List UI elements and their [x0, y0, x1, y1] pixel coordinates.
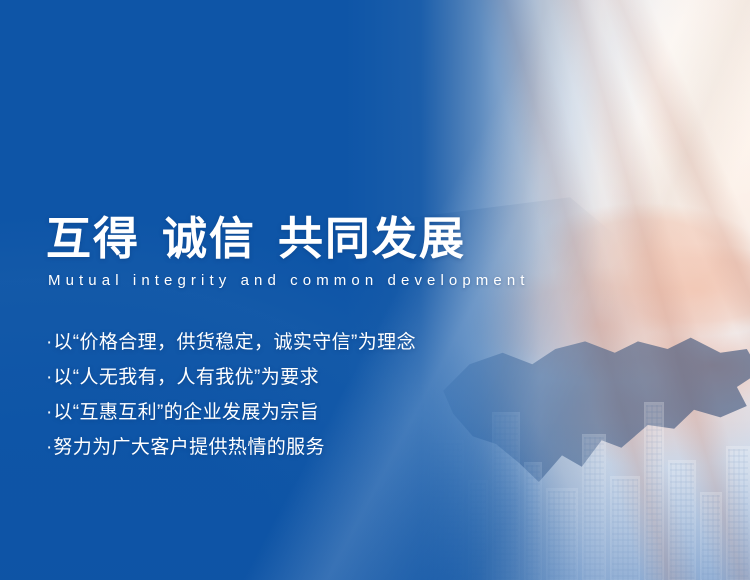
list-item: · 以“价格合理，供货稳定，诚实守信”为理念 — [46, 333, 416, 352]
headline-part-1: 互得 — [46, 213, 140, 264]
slogan-list: · 以“价格合理，供货稳定，诚实守信”为理念 · 以“人无我有，人有我优”为要求… — [46, 333, 416, 473]
bullet-dot-icon: · — [46, 438, 52, 457]
subheadline: Mutual integrity and common development — [48, 272, 530, 289]
headline-part-3: 共同发展 — [278, 213, 466, 264]
slogan-text: 以“人无我有，人有我优”为要求 — [53, 368, 319, 387]
list-item: · 努力为广大客户提供热情的服务 — [46, 438, 416, 457]
headline: 互得诚信共同发展 — [46, 216, 466, 261]
headline-part-2: 诚信 — [162, 213, 256, 264]
slogan-text: 以“价格合理，供货稳定，诚实守信”为理念 — [53, 333, 416, 352]
bullet-dot-icon: · — [46, 368, 52, 387]
slogan-text: 以“互惠互利”的企业发展为宗旨 — [53, 403, 319, 422]
slogan-text: 努力为广大客户提供热情的服务 — [53, 438, 325, 457]
list-item: · 以“人无我有，人有我优”为要求 — [46, 368, 416, 387]
bullet-dot-icon: · — [46, 333, 52, 352]
list-item: · 以“互惠互利”的企业发展为宗旨 — [46, 403, 416, 422]
bullet-dot-icon: · — [46, 403, 52, 422]
banner-content: 互得诚信共同发展 Mutual integrity and common dev… — [46, 0, 686, 580]
hero-banner: 互得诚信共同发展 Mutual integrity and common dev… — [0, 0, 750, 580]
